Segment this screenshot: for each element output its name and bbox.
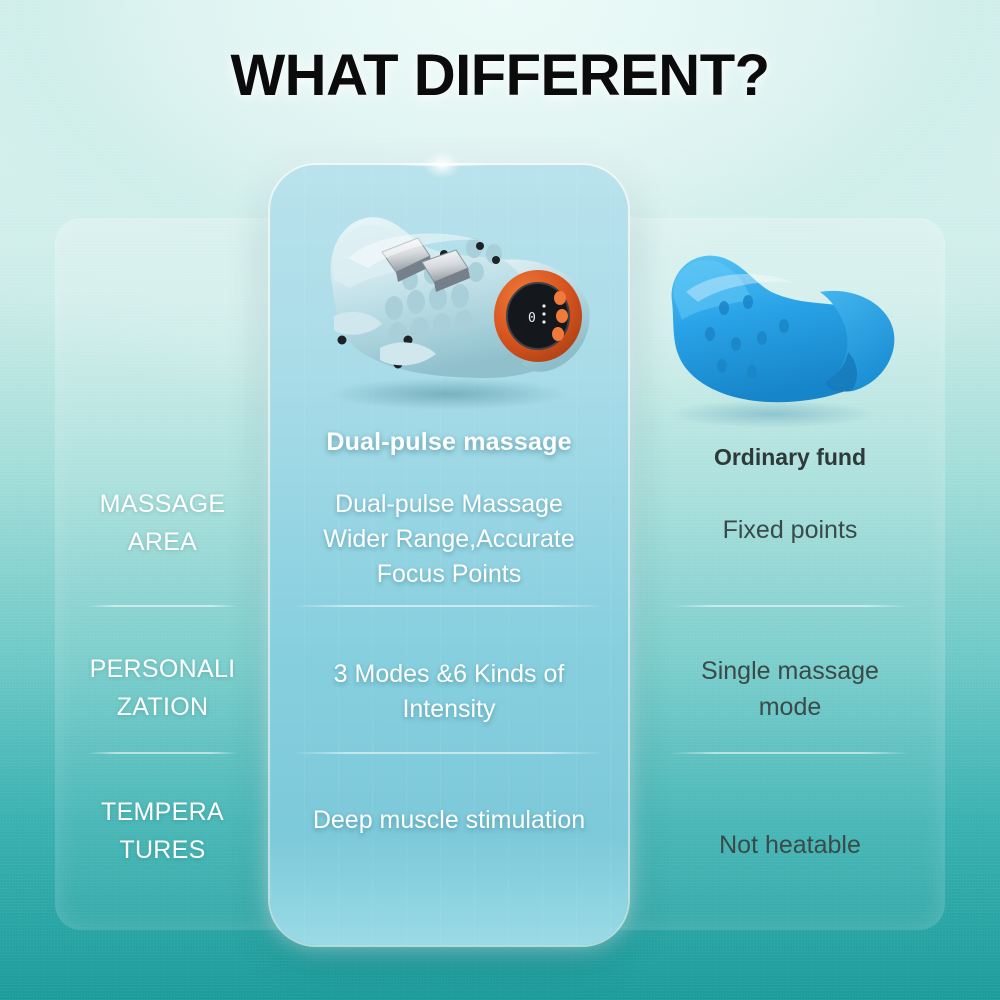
ordinary-row-massage-area: Fixed points <box>640 512 940 548</box>
feature-label-personalization: PERSONALI ZATION <box>60 650 265 726</box>
feature-label-massage-area: MASSAGE AREA <box>60 485 265 561</box>
ordinary-row-temperatures: Not heatable <box>640 827 940 863</box>
featured-row-temperatures: Deep muscle stimulation <box>278 803 620 838</box>
row-divider-left-2 <box>88 752 238 754</box>
infographic-canvas: WHAT DIFFERENT? <box>0 0 1000 1000</box>
neck-massager-device-icon: 0 <box>298 188 602 410</box>
row-divider-right-2 <box>672 752 908 754</box>
row-divider-mid-2 <box>292 752 604 754</box>
svg-text:0: 0 <box>528 311 536 326</box>
feature-label-temperatures: TEMPERA TURES <box>60 793 265 869</box>
ordinary-row-personalization: Single massage mode <box>640 653 940 725</box>
row-divider-left-1 <box>88 605 238 607</box>
featured-row-massage-area: Dual-pulse Massage Wider Range,Accurate … <box>278 487 620 592</box>
page-title: WHAT DIFFERENT? <box>0 42 1000 109</box>
featured-product-heading: Dual-pulse massage <box>278 428 620 457</box>
ordinary-product-heading: Ordinary fund <box>640 444 940 471</box>
row-divider-mid-1 <box>292 605 604 607</box>
featured-row-personalization: 3 Modes &6 Kinds of Intensity <box>278 657 620 727</box>
row-divider-right-1 <box>672 605 908 607</box>
plain-neck-stretcher-icon <box>652 242 900 428</box>
